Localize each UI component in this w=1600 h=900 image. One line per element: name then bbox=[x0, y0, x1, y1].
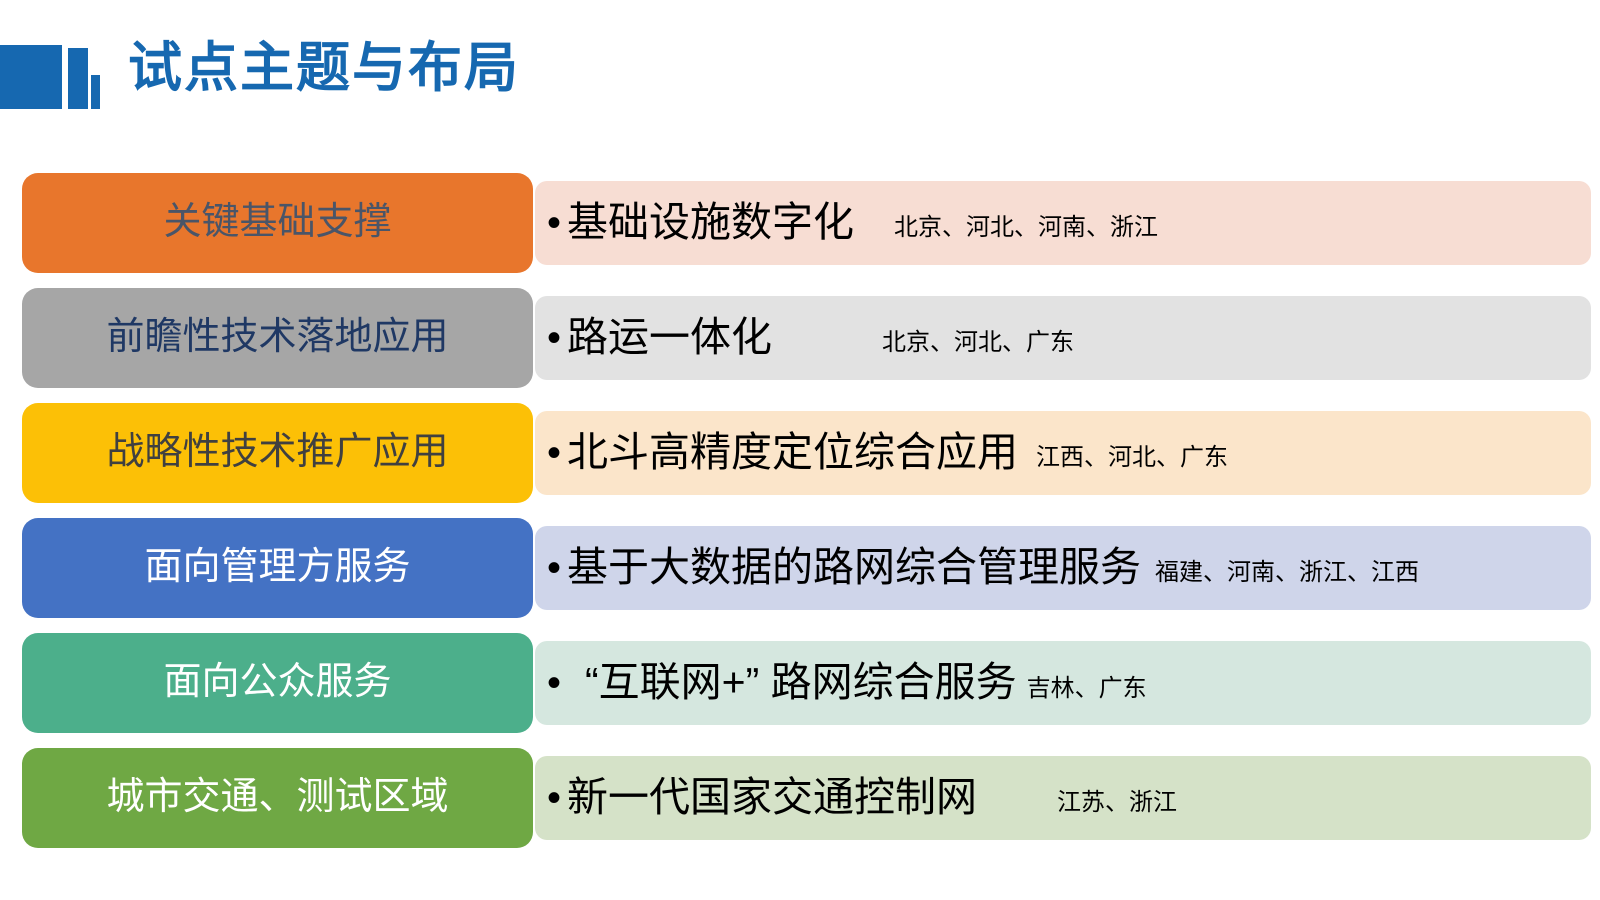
row-category-label: 城市交通、测试区域 bbox=[106, 777, 448, 819]
row-item-label: 北斗高精度定位综合应用 bbox=[567, 430, 1018, 475]
row-regions-label: 北京、河北、河南、浙江 bbox=[894, 205, 1158, 241]
row-item-label: 路运一体化 bbox=[567, 315, 772, 360]
row-category-6[interactable]: 城市交通、测试区域 bbox=[22, 748, 533, 848]
bar-chart-decoration-icon bbox=[0, 45, 100, 109]
row-content-5[interactable]: • “互联网+” 路网综合服务 吉林、广东 bbox=[535, 641, 1591, 725]
table-row: 关键基础支撑 • 基础设施数字化 北京、河北、河南、浙江 bbox=[0, 173, 1600, 273]
slide-header: 试点主题与布局 bbox=[0, 0, 1600, 150]
bullet-icon: • bbox=[547, 433, 561, 473]
bullet-icon: • bbox=[547, 548, 561, 588]
row-category-label: 战略性技术推广应用 bbox=[106, 432, 448, 474]
square-block-icon bbox=[0, 45, 62, 109]
row-category-label: 面向管理方服务 bbox=[144, 547, 410, 589]
row-category-2[interactable]: 前瞻性技术落地应用 bbox=[22, 288, 533, 388]
short-bar-icon bbox=[91, 75, 100, 109]
row-category-label: 面向公众服务 bbox=[163, 662, 391, 704]
row-regions-label: 江苏、浙江 bbox=[1057, 780, 1177, 816]
table-row: 面向公众服务 • “互联网+” 路网综合服务 吉林、广东 bbox=[0, 633, 1600, 733]
row-regions-label: 吉林、广东 bbox=[1027, 664, 1147, 702]
theme-layout-list: 关键基础支撑 • 基础设施数字化 北京、河北、河南、浙江 前瞻性技术落地应用 •… bbox=[0, 173, 1600, 863]
row-item-label: 基于大数据的路网综合管理服务 bbox=[567, 545, 1141, 590]
row-category-label: 关键基础支撑 bbox=[163, 202, 391, 244]
bullet-icon: • bbox=[547, 318, 561, 358]
row-content-4[interactable]: • 基于大数据的路网综合管理服务 福建、河南、浙江、江西 bbox=[535, 526, 1591, 610]
row-regions-label: 北京、河北、广东 bbox=[882, 320, 1074, 356]
bullet-icon: • bbox=[547, 663, 561, 703]
row-item-label: 基础设施数字化 bbox=[567, 200, 854, 245]
row-item-label: “互联网+” 路网综合服务 bbox=[585, 660, 1017, 705]
row-regions-label: 江西、河北、广东 bbox=[1036, 435, 1228, 471]
tall-bar-icon bbox=[68, 48, 88, 109]
row-category-3[interactable]: 战略性技术推广应用 bbox=[22, 403, 533, 503]
row-category-label: 前瞻性技术落地应用 bbox=[106, 317, 448, 359]
table-row: 前瞻性技术落地应用 • 路运一体化 北京、河北、广东 bbox=[0, 288, 1600, 388]
row-content-1[interactable]: • 基础设施数字化 北京、河北、河南、浙江 bbox=[535, 181, 1591, 265]
row-content-3[interactable]: • 北斗高精度定位综合应用 江西、河北、广东 bbox=[535, 411, 1591, 495]
table-row: 战略性技术推广应用 • 北斗高精度定位综合应用 江西、河北、广东 bbox=[0, 403, 1600, 503]
page-title: 试点主题与布局 bbox=[128, 34, 520, 102]
table-row: 面向管理方服务 • 基于大数据的路网综合管理服务 福建、河南、浙江、江西 bbox=[0, 518, 1600, 618]
row-regions-label: 福建、河南、浙江、江西 bbox=[1155, 550, 1419, 586]
row-category-5[interactable]: 面向公众服务 bbox=[22, 633, 533, 733]
row-item-label: 新一代国家交通控制网 bbox=[567, 775, 977, 820]
bullet-icon: • bbox=[547, 203, 561, 243]
bullet-icon: • bbox=[547, 778, 561, 818]
table-row: 城市交通、测试区域 • 新一代国家交通控制网 江苏、浙江 bbox=[0, 748, 1600, 848]
row-category-1[interactable]: 关键基础支撑 bbox=[22, 173, 533, 273]
row-category-4[interactable]: 面向管理方服务 bbox=[22, 518, 533, 618]
row-content-2[interactable]: • 路运一体化 北京、河北、广东 bbox=[535, 296, 1591, 380]
row-content-6[interactable]: • 新一代国家交通控制网 江苏、浙江 bbox=[535, 756, 1591, 840]
